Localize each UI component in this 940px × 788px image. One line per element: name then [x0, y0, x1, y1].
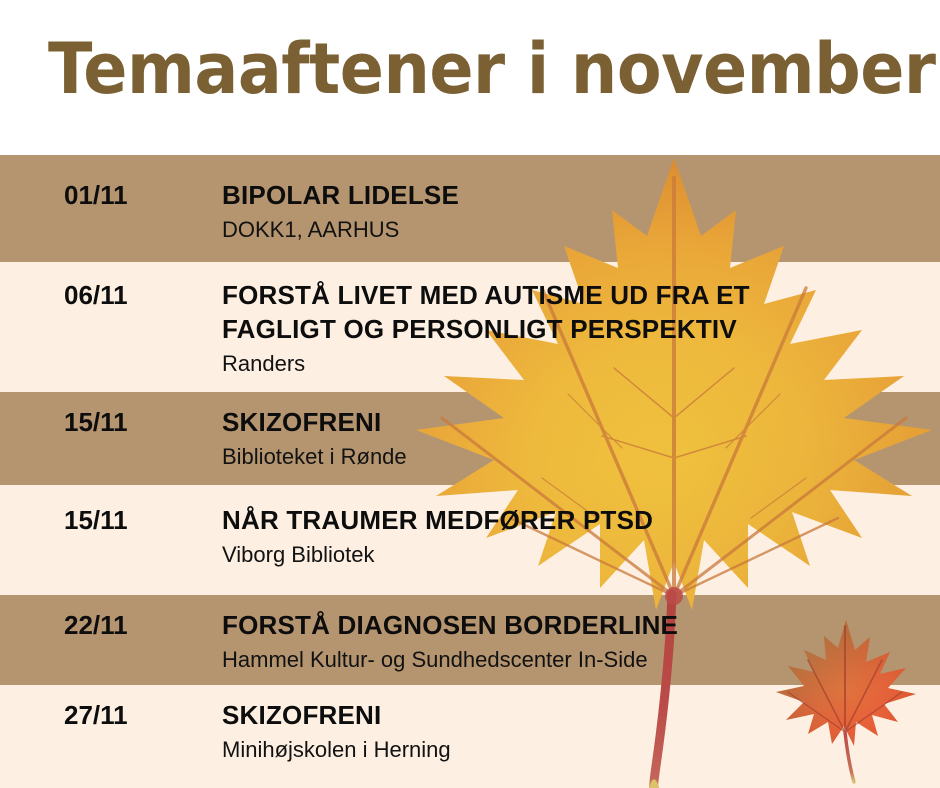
- event-title-3: SKIZOFRENI: [222, 405, 928, 439]
- event-row-4[interactable]: 15/11 NÅR TRAUMER MEDFØRER PTSD Viborg B…: [0, 503, 940, 570]
- event-title-5: FORSTÅ DIAGNOSEN BORDERLINE: [222, 608, 928, 642]
- event-row-6[interactable]: 27/11 SKIZOFRENI Minihøjskolen i Herning: [0, 698, 940, 765]
- event-detail-4: NÅR TRAUMER MEDFØRER PTSD Viborg Bibliot…: [222, 503, 940, 570]
- event-venue-3: Biblioteket i Rønde: [222, 441, 928, 472]
- event-row-3[interactable]: 15/11 SKIZOFRENI Biblioteket i Rønde: [0, 405, 940, 472]
- event-title-6: SKIZOFRENI: [222, 698, 928, 732]
- event-venue-6: Minihøjskolen i Herning: [222, 734, 928, 765]
- event-venue-1: DOKK1, AARHUS: [222, 214, 928, 245]
- event-row-5[interactable]: 22/11 FORSTÅ DIAGNOSEN BORDERLINE Hammel…: [0, 608, 940, 675]
- event-detail-2: FORSTÅ LIVET MED AUTISME UD FRA ET FAGLI…: [222, 278, 940, 379]
- event-detail-5: FORSTÅ DIAGNOSEN BORDERLINE Hammel Kultu…: [222, 608, 940, 675]
- event-date-3: 15/11: [0, 405, 222, 439]
- page-title: Temaaftener i november: [48, 28, 936, 110]
- title-area: Temaaftener i november: [0, 0, 940, 155]
- event-venue-2: Randers: [222, 348, 928, 379]
- event-title-1: BIPOLAR LIDELSE: [222, 178, 928, 212]
- event-title-2: FORSTÅ LIVET MED AUTISME UD FRA ET FAGLI…: [222, 278, 822, 346]
- event-title-4: NÅR TRAUMER MEDFØRER PTSD: [222, 503, 928, 537]
- event-date-2: 06/11: [0, 278, 222, 312]
- event-detail-6: SKIZOFRENI Minihøjskolen i Herning: [222, 698, 940, 765]
- event-row-2[interactable]: 06/11 FORSTÅ LIVET MED AUTISME UD FRA ET…: [0, 278, 940, 379]
- poster-canvas: Temaaftener i november 01/11 BIPOLAR LID…: [0, 0, 940, 788]
- event-detail-3: SKIZOFRENI Biblioteket i Rønde: [222, 405, 940, 472]
- event-date-4: 15/11: [0, 503, 222, 537]
- event-date-5: 22/11: [0, 608, 222, 642]
- event-venue-5: Hammel Kultur- og Sundhedscenter In-Side: [222, 644, 928, 675]
- event-detail-1: BIPOLAR LIDELSE DOKK1, AARHUS: [222, 178, 940, 245]
- event-row-1[interactable]: 01/11 BIPOLAR LIDELSE DOKK1, AARHUS: [0, 178, 940, 245]
- event-venue-4: Viborg Bibliotek: [222, 539, 928, 570]
- event-date-6: 27/11: [0, 698, 222, 732]
- event-date-1: 01/11: [0, 178, 222, 212]
